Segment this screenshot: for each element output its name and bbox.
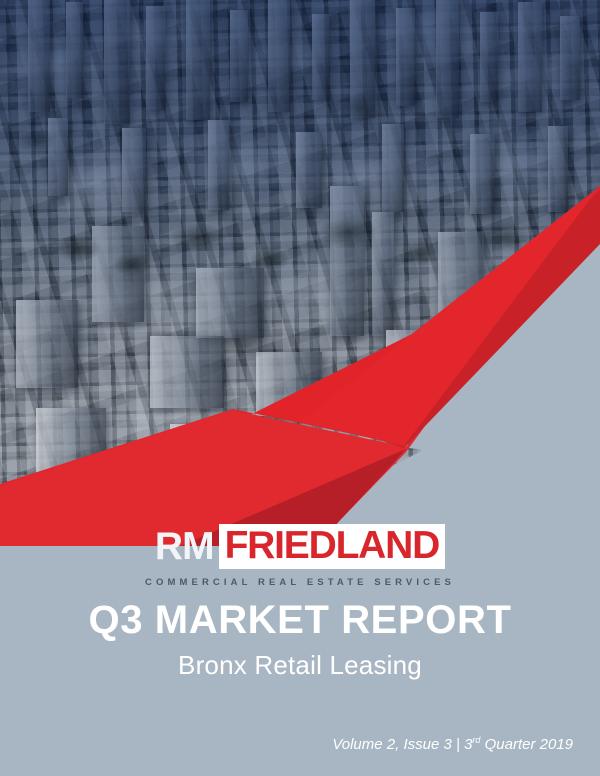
page-subtitle: Bronx Retail Leasing [0, 648, 600, 682]
logo-tagline: COMMERCIAL REAL ESTATE SERVICES [0, 577, 600, 588]
report-cover-page: RMFRIEDLAND COMMERCIAL REAL ESTATE SERVI… [0, 0, 600, 776]
issue-line: Volume 2, Issue 3 | 3rd Quarter 2019 [332, 735, 573, 755]
rm-friedland-logo: RMFRIEDLAND COMMERCIAL REAL ESTATE SERVI… [0, 524, 600, 588]
page-title: Q3 MARKET REPORT [0, 598, 600, 642]
issue-quarter-ordinal: rd [472, 735, 480, 745]
title-block: Q3 MARKET REPORT Bronx Retail Leasing [0, 598, 600, 682]
issue-volume: Volume 2, Issue 3 [332, 736, 452, 753]
issue-quarter-label: Quarter 2019 [485, 736, 573, 753]
logo-mark-rm: RM [155, 526, 219, 568]
logo-wordmark: RMFRIEDLAND [155, 524, 445, 569]
logo-mark-friedland: FRIEDLAND [219, 524, 446, 569]
issue-separator: | [456, 736, 460, 753]
